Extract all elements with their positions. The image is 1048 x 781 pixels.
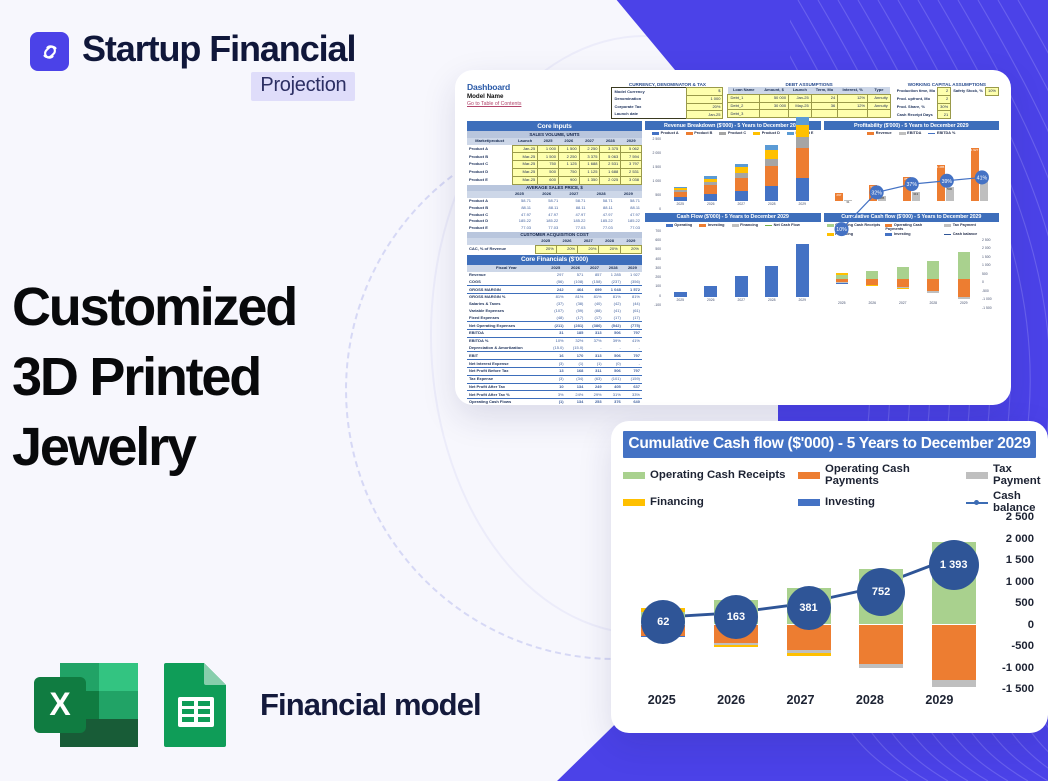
bar-segment-1 <box>859 625 903 664</box>
avg-price-row-cell: Product A <box>467 198 506 205</box>
financials-cell: 699 <box>585 286 603 294</box>
wc-value: 30% <box>938 103 951 111</box>
financials-cell: (356) <box>623 278 642 285</box>
bar-stack <box>897 244 909 300</box>
financials-cell: 10 <box>546 383 566 391</box>
wc-value2 <box>985 111 998 119</box>
financials-row: Net Profit After Tax10134249405637 <box>467 383 642 391</box>
financials-cell: (237) <box>604 278 623 285</box>
google-sheets-icon <box>160 661 232 749</box>
axis-tick: 1 000 <box>647 179 661 183</box>
financials-cell: (17) <box>566 314 586 321</box>
axis-tick: 0 <box>647 207 661 211</box>
data-point-label: 381 <box>787 586 831 630</box>
financials-cell: 134 <box>566 383 586 391</box>
data-point-label: 62 <box>641 600 685 644</box>
axis-tick: 2029 <box>798 298 806 307</box>
financials-cell: 797 <box>623 352 642 360</box>
toc-link[interactable]: Go to Table of Contents <box>467 101 607 107</box>
debt-cell: 50 000 <box>760 94 789 102</box>
wc-row: Prod. Share, %30% <box>895 103 999 111</box>
y-axis-tick: 500 <box>1015 597 1034 609</box>
bar-stack <box>765 145 778 201</box>
sales-volume-row-cell: 2 531 <box>621 168 642 176</box>
avg-price-row-cell: 77.03 <box>506 225 533 232</box>
badge-label: Financial model <box>260 687 481 723</box>
axis-tick: 2026 <box>707 202 715 211</box>
bar-stack <box>704 286 717 297</box>
axis-tick: 2 000 <box>647 151 661 155</box>
financials-cell: 506 <box>604 368 623 376</box>
brand-title: Startup Financial <box>82 28 355 70</box>
sales-volume-row-col: Market/product <box>467 138 512 145</box>
wc-value2 <box>985 103 998 111</box>
axis-tick: 200 <box>647 275 661 279</box>
financials-cell: (63) <box>585 375 603 383</box>
bar-segment-2 <box>859 664 903 668</box>
financials-cell: 242 <box>546 286 566 294</box>
financials-cell: 31% <box>604 391 623 399</box>
sales-volume-row-cell: 2 531 <box>600 161 621 169</box>
wc-value: 2 <box>938 88 951 96</box>
debt-cell: 12% <box>838 102 868 110</box>
financials-cell: 376 <box>604 399 623 405</box>
financials-row: Depreciation & Amortization(15.0)(15.0)-… <box>467 345 642 352</box>
debt-col-header: Launch <box>789 87 812 94</box>
avg-price-row-cell: 77.03 <box>615 225 642 232</box>
mini-chart-profitability-legend: RevenueEBITDAEBITDA % <box>824 130 1000 137</box>
bar-segment <box>866 271 878 279</box>
axis-tick: 1 500 <box>647 165 661 169</box>
cac-row-col: 2026 <box>556 238 577 245</box>
chart-plot-area: 621633817521 393 <box>627 517 974 689</box>
axis-tick: 500 <box>982 272 996 276</box>
bar-segment <box>765 266 778 297</box>
sales-volume-row-cell: 1 688 <box>579 161 600 169</box>
avg-price-row-cell: 58.71 <box>615 198 642 205</box>
debt-cell <box>760 110 789 118</box>
financials-row: Fixed Expenses(48)(17)(17)(17)(17) <box>467 314 642 321</box>
headline-line-3: Jewelry <box>12 412 296 482</box>
financials-cell: 81% <box>546 294 566 301</box>
financials-cell: (15.0) <box>546 345 566 352</box>
legend-swatch <box>899 132 906 135</box>
axis-tick: 1 500 <box>982 255 996 259</box>
legend-swatch <box>765 225 772 226</box>
svg-text:32%: 32% <box>871 191 882 197</box>
axis-tick: -500 <box>982 289 996 293</box>
financials-cell: (386) <box>585 322 603 330</box>
avg-price-table: 20252026202720282029 Product A58.7158.71… <box>467 191 642 232</box>
financials-cell: (61) <box>623 308 642 315</box>
financials-cell: 637 <box>623 383 642 391</box>
financials-cell: 313 <box>585 352 603 360</box>
brand-subtitle: Projection <box>251 72 355 101</box>
financials-cell: (159) <box>623 375 642 383</box>
financials-cell: - <box>604 345 623 352</box>
financials-cell: (211) <box>546 322 566 330</box>
sales-volume-row-cell: 750 <box>558 168 579 176</box>
avg-price-row-col: 2027 <box>560 191 587 198</box>
financials-cell: 16 <box>546 352 566 360</box>
financials-cell: EBITDA <box>467 330 546 338</box>
financials-cell: Variable Expenses <box>467 308 546 315</box>
axis-tick: 1 000 <box>982 263 996 267</box>
financials-cell: Fixed Expenses <box>467 314 546 321</box>
cumulative-cashflow-card[interactable]: Cumulative Cash flow ($'000) - 5 Years t… <box>611 421 1048 733</box>
axis-tick: 500 <box>647 193 661 197</box>
wc-label: Production time, Mo <box>895 88 938 96</box>
avg-price-row-cell: 77.03 <box>588 225 615 232</box>
mini-chart-revenue-yaxis: 2 5002 0001 5001 0005000 <box>647 137 663 211</box>
financials-cell: Depreciation & Amortization <box>467 345 546 352</box>
wc-label: Prod. upfront, Mo <box>895 95 938 103</box>
financials-cell: 81% <box>566 294 586 301</box>
legend-label-financing: Financing <box>650 496 704 508</box>
bar-stack <box>796 117 809 201</box>
bar-segment <box>796 178 809 201</box>
financials-cell: 506 <box>604 352 623 360</box>
currency-row: Corporate Tax20% <box>612 103 723 111</box>
legend-swatch-payments <box>798 472 820 479</box>
legend-item-financing: Financing <box>623 490 798 514</box>
y-axis-tick: -1 500 <box>1002 683 1034 695</box>
mini-chart-profitability-title: Profitability ($'000) - 5 Years to Decem… <box>824 121 1000 130</box>
bar-stack <box>958 244 970 300</box>
financials-cell: (1) <box>566 360 586 368</box>
legend-item: EBITDA <box>899 131 922 135</box>
bar-segment <box>704 286 717 297</box>
avg-price-row-cell: 58.71 <box>533 198 560 205</box>
dashboard-preview-card[interactable]: Dashboard Model Name Go to Table of Cont… <box>455 70 1011 405</box>
x-axis-tick: 2026 <box>696 693 765 715</box>
bar-segment <box>796 137 809 148</box>
bar-stack <box>866 244 878 300</box>
mini-chart-cashflow-yaxis: 7006005004003002001000-100 <box>647 229 663 307</box>
avg-price-row-cell: Product B <box>467 205 506 212</box>
debt-cell <box>868 110 891 118</box>
wc-label: Cash Receipt Days <box>895 111 938 119</box>
sales-volume-row-col: Launch <box>512 138 537 145</box>
mini-chart-cashflow-bars <box>665 231 818 297</box>
sales-volume-row-col: 2028 <box>600 138 621 145</box>
currency-row: Launch dateJan-25 <box>612 111 723 119</box>
legend-label-tax: Tax Payment <box>993 463 1040 487</box>
financials-cell: 506 <box>604 330 623 338</box>
financials-cell: 253 <box>585 399 603 405</box>
wc-row: Prod. upfront, Mo2 <box>895 95 999 103</box>
debt-cell: Debt_1 <box>728 94 760 102</box>
headline-line-1: Customized <box>12 272 296 342</box>
svg-text:37%: 37% <box>906 182 917 188</box>
bar-segment <box>796 125 809 137</box>
debt-col-header: Term, Mo <box>811 87 838 94</box>
mini-chart-cumulative-xaxis: 20252026202720282029 <box>827 301 980 310</box>
wc-label2 <box>951 111 986 119</box>
financials-cell: 81% <box>604 294 623 301</box>
legend-item: Operating <box>666 223 693 227</box>
legend-item: Product C <box>719 131 746 135</box>
avg-price-row-cell: 185.22 <box>615 218 642 225</box>
legend-item: Net Cash Flow <box>765 223 800 227</box>
page-title: Customized 3D Printed Jewelry <box>12 272 296 482</box>
financials-cell: (1) <box>585 360 603 368</box>
data-point-label: 1 393 <box>929 540 979 590</box>
core-financials-table: Fiscal Year20252026202720282029 Revenue2… <box>467 265 642 405</box>
mini-chart-cashflow-xaxis: 20252026202720282029 <box>665 298 818 307</box>
financials-cell: Net Profit Before Tax <box>467 368 546 376</box>
axis-tick: 2027 <box>737 298 745 307</box>
axis-tick: 2025 <box>676 298 684 307</box>
financials-cell: 168 <box>566 368 586 376</box>
financials-cell: (37) <box>546 301 566 308</box>
financials-row: Net Profit After Tax %3%24%29%31%33% <box>467 391 642 399</box>
sales-volume-table: Market/productLaunch20252026202720282029… <box>467 138 642 185</box>
cac-row-col: 2025 <box>535 238 556 245</box>
financials-cell: - <box>585 345 603 352</box>
axis-tick: 0 <box>982 280 996 284</box>
cac-row-cell: 20% <box>578 245 599 253</box>
sales-volume-row: Product DMar-255007501 1251 6882 531 <box>467 168 642 176</box>
financials-cell: 3% <box>546 391 566 399</box>
avg-price-row: Product E77.0377.0377.0377.0377.03 <box>467 225 642 232</box>
legend-swatch <box>699 224 706 227</box>
axis-tick: 2029 <box>960 301 968 310</box>
bar-segment <box>735 178 748 191</box>
mini-chart-revenue-legend: Product AProduct BProduct CProduct DProd… <box>645 130 821 137</box>
financials-row: GROSS MARGIN2424646991 0481 572 <box>467 286 642 294</box>
sales-volume-row-cell: 1 500 <box>538 153 559 161</box>
sales-volume-row: Product CMar-257501 1251 6882 5313 797 <box>467 161 642 169</box>
financials-cell: Operating Cash Flows <box>467 399 546 405</box>
microsoft-excel-icon: X <box>32 661 140 749</box>
financials-cell: (40) <box>585 301 603 308</box>
financials-cell: 1 285 <box>604 272 623 279</box>
legend-swatch <box>867 132 874 135</box>
financials-cell: GROSS MARGIN % <box>467 294 546 301</box>
sales-volume-row-cell: 1 688 <box>600 168 621 176</box>
financials-cell: Net Profit After Tax <box>467 383 546 391</box>
currency-label: Corporate Tax <box>612 103 687 111</box>
cac-row-cell: 20% <box>620 245 641 253</box>
financials-row: EBIT16170313506797 <box>467 352 642 360</box>
financials-cell: EBIT <box>467 352 546 360</box>
axis-tick: 2027 <box>737 202 745 211</box>
core-financials-bar: Core Financials ($'000) <box>467 255 642 265</box>
svg-text:10%: 10% <box>836 227 847 233</box>
legend-item: EBITDA % <box>928 131 955 135</box>
x-axis-tick: 2028 <box>835 693 904 715</box>
legend-swatch <box>666 224 673 227</box>
financials-col: 2028 <box>604 265 623 272</box>
sales-volume-row-cell: Product C <box>467 161 512 169</box>
sales-volume-row-cell: Product E <box>467 176 512 184</box>
debt-cell <box>811 110 838 118</box>
cac-table: 20252026202720282029 CAC, % of Revenue20… <box>467 238 642 254</box>
financials-cell: (56) <box>546 278 566 285</box>
wc-label2 <box>951 95 986 103</box>
financials-cell: 39% <box>604 337 623 344</box>
bar-segment <box>897 288 909 289</box>
financials-col: 2025 <box>546 265 566 272</box>
debt-cell <box>838 110 868 118</box>
financials-cell: (1) <box>546 399 566 405</box>
sales-volume-row-cell: 3 797 <box>621 161 642 169</box>
sales-volume-row-col: 2027 <box>579 138 600 145</box>
financials-cell: (88) <box>585 308 603 315</box>
axis-tick: 300 <box>647 266 661 270</box>
financials-cell: (101) <box>604 375 623 383</box>
sales-volume-row-cell: Mar-25 <box>512 168 537 176</box>
axis-tick: 2025 <box>838 301 846 310</box>
sales-volume-row-cell: 5 062 <box>621 145 642 153</box>
financials-cell: 464 <box>566 286 586 294</box>
data-point-label: 752 <box>857 568 905 616</box>
financials-col: 2026 <box>566 265 586 272</box>
legend-swatch <box>928 133 935 134</box>
financials-row: COGS(56)(108)(158)(237)(356) <box>467 278 642 285</box>
x-axis-tick: 2029 <box>905 693 974 715</box>
debt-col-header: Loan Name <box>728 87 760 94</box>
financials-cell: 571 <box>566 272 586 279</box>
debt-cell: Annuity <box>868 102 891 110</box>
format-badges: X Financial model <box>32 661 481 749</box>
bar-segment <box>735 276 748 297</box>
avg-price-row: Product C47.9747.9747.9747.9747.97 <box>467 211 642 218</box>
debt-cell: 30 000 <box>760 102 789 110</box>
bar-segment-2 <box>932 680 976 687</box>
avg-price-row-cell: 58.71 <box>588 198 615 205</box>
avg-price-row-cell: 47.97 <box>533 211 560 218</box>
avg-price-row-cell: 77.03 <box>533 225 560 232</box>
currency-row: Denomination1 000 <box>612 95 723 103</box>
sales-volume-row-col: 2026 <box>558 138 579 145</box>
financials-row: EBITDA %10%32%37%39%41% <box>467 337 642 344</box>
svg-text:39%: 39% <box>941 179 952 185</box>
excel-dashboard: Dashboard Model Name Go to Table of Cont… <box>463 78 1003 401</box>
sales-volume-row-cell: Product A <box>467 145 512 153</box>
mini-chart-cashflow-title: Cash Flow ($'000) - 5 Years to December … <box>645 213 821 222</box>
wc-row: Cash Receipt Days21 <box>895 111 999 119</box>
wc-value2: 10% <box>985 88 998 96</box>
financials-cell: 1 927 <box>623 272 642 279</box>
financials-cell: 640 <box>623 399 642 405</box>
currency-value: 20% <box>687 103 723 111</box>
sales-volume-row-cell: 750 <box>538 161 559 169</box>
legend-label-payments: Operating Cash Payments <box>825 463 966 487</box>
financials-cell: (17) <box>623 314 642 321</box>
sales-volume-row-cell: 3 375 <box>579 153 600 161</box>
legend-swatch-financing <box>623 499 645 506</box>
financials-cell: (59) <box>566 308 586 315</box>
sales-volume-row-cell: 500 <box>538 168 559 176</box>
axis-tick: 2026 <box>707 298 715 307</box>
financials-row: Net Profit Before Tax13168311506797 <box>467 368 642 376</box>
avg-price-row-cell: 185.22 <box>560 218 587 225</box>
legend-swatch <box>732 224 739 227</box>
wc-label: Prod. Share, % <box>895 103 938 111</box>
financials-cell: - <box>623 360 642 368</box>
debt-cell: 12% <box>838 94 868 102</box>
bar-segment-1 <box>932 625 976 680</box>
cac-row-cell: 20% <box>599 245 620 253</box>
financials-cell: 857 <box>585 272 603 279</box>
financials-row: Salaries & Taxes(37)(38)(40)(42)(44) <box>467 301 642 308</box>
wc-value: 2 <box>938 95 951 103</box>
bar-segment <box>897 279 909 287</box>
y-axis-tick: 1 000 <box>1006 576 1034 588</box>
financials-cell: 311 <box>585 368 603 376</box>
y-axis-tick: 2 000 <box>1006 533 1034 545</box>
avg-price-row-cell: 58.71 <box>560 198 587 205</box>
avg-price-row: Product A58.7158.7158.7158.7158.71 <box>467 198 642 205</box>
financials-cell: (42) <box>604 301 623 308</box>
axis-tick: 2028 <box>929 301 937 310</box>
bar-segment <box>927 261 939 279</box>
bar-segment <box>765 186 778 201</box>
mini-chart-revenue-xaxis: 20252026202720282029 <box>665 202 818 211</box>
bar-segment <box>796 117 809 125</box>
currency-value: $ <box>687 88 723 96</box>
sales-volume-row-cell: 900 <box>558 176 579 184</box>
headline-line-2: 3D Printed <box>12 342 296 412</box>
legend-swatch <box>686 132 693 135</box>
financials-cell: 10% <box>546 337 566 344</box>
sales-volume-row-cell: Product B <box>467 153 512 161</box>
financials-cell: 134 <box>566 399 586 405</box>
avg-price-row-col: 2028 <box>588 191 615 198</box>
e-logo-icon <box>30 32 69 71</box>
axis-tick: 2027 <box>899 301 907 310</box>
avg-price-row-col: 2029 <box>615 191 642 198</box>
sales-volume-row-col: 2029 <box>621 138 642 145</box>
mini-chart-cashflow-legend: OperatingInvestingFinancingNet Cash Flow <box>645 222 821 229</box>
financials-cell: EBITDA % <box>467 337 546 344</box>
y-axis-tick: 2 500 <box>1006 511 1034 523</box>
avg-price-row-cell: 47.97 <box>588 211 615 218</box>
cac-row-col: 2028 <box>599 238 620 245</box>
debt-table: Loan NameAmount, $LaunchTerm, MoInterest… <box>727 87 890 118</box>
avg-price-row-cell: 47.97 <box>615 211 642 218</box>
axis-tick: 2029 <box>798 202 806 211</box>
chart-legend: Operating Cash Receipts Operating Cash P… <box>623 463 1036 514</box>
legend-label-investing: Investing <box>825 496 875 508</box>
financials-cell: (281) <box>566 322 586 330</box>
axis-tick: 2 500 <box>982 238 996 242</box>
chart-x-axis: 20252026202720282029 <box>627 693 974 715</box>
financials-cell: (17) <box>585 314 603 321</box>
mini-chart-revenue: Revenue Breakdown ($'000) - 5 Years to D… <box>645 121 821 211</box>
financials-cell: (34) <box>566 375 586 383</box>
sales-volume-row-cell: 1 000 <box>538 145 559 153</box>
sales-volume-row-cell: Product D <box>467 168 512 176</box>
sales-volume-row-cell: Jan-25 <box>512 145 537 153</box>
legend-item: Revenue <box>867 131 891 135</box>
financials-cell: (3) <box>546 360 566 368</box>
mini-chart-cashflow: Cash Flow ($'000) - 5 Years to December … <box>645 213 821 310</box>
financials-cell: (0) <box>604 360 623 368</box>
bar-segment <box>897 267 909 279</box>
bar-segment-3 <box>714 645 758 648</box>
currency-table: Model Currency$Denomination1 000Corporat… <box>611 87 723 119</box>
bar-stack <box>765 266 778 297</box>
wc-value2 <box>985 95 998 103</box>
debt-cell: 36 <box>811 102 838 110</box>
axis-tick: 600 <box>647 238 661 242</box>
sales-volume-row-cell: 1 350 <box>579 176 600 184</box>
axis-tick: 100 <box>647 284 661 288</box>
financials-cell: 81% <box>623 294 642 301</box>
